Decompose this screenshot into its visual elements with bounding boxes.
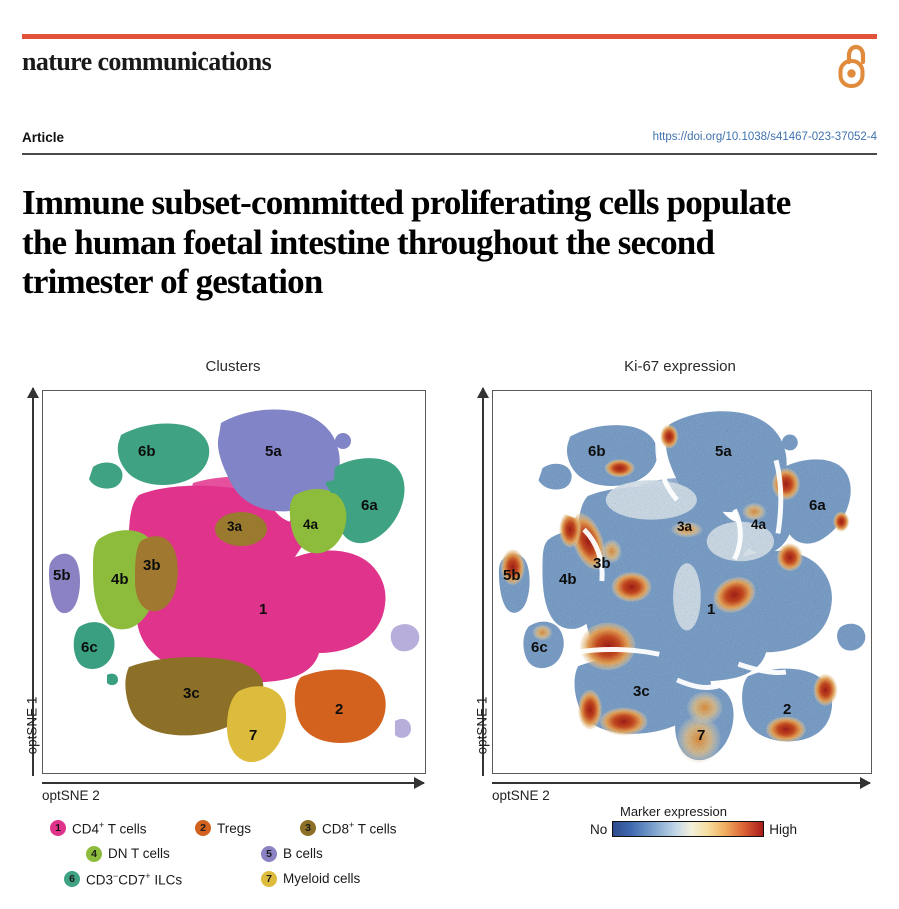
panel-ki67: Ki-67 expression optSNE 1 optSNE 2 xyxy=(470,358,890,818)
legend-label-6: CD3−CD7+ ILCs xyxy=(86,871,182,888)
legend-item-1[interactable]: 1 CD4+ T cells xyxy=(50,820,195,837)
colorbar-high-label: High xyxy=(769,822,797,837)
legend-label-7: Myeloid cells xyxy=(283,871,360,886)
journal-name: nature communications xyxy=(22,47,271,77)
legend-item-5[interactable]: 5 B cells xyxy=(261,846,323,862)
page-title: Immune subset-committed proliferating ce… xyxy=(22,183,822,301)
x-axis-arrow-right xyxy=(492,782,870,784)
legend-label-2: Tregs xyxy=(217,821,251,836)
colorbar-low-label: No xyxy=(590,822,607,837)
colorbar-gradient xyxy=(612,821,764,837)
cluster-blob-5a-satellite xyxy=(335,433,351,449)
legend-label-3: CD8+ T cells xyxy=(322,820,397,837)
cluster-scatter-svg xyxy=(43,391,425,773)
legend-badge-1: 1 xyxy=(50,820,66,836)
cluster-blob-6b xyxy=(118,423,209,485)
ki67-scatter-svg xyxy=(493,391,871,773)
legend-item-7[interactable]: 7 Myeloid cells xyxy=(261,871,360,887)
x-axis-label-left: optSNE 2 xyxy=(42,788,100,803)
legend-row-1: 1 CD4+ T cells 2 Tregs 3 CD8+ T cells xyxy=(50,820,450,837)
cluster-blob-7 xyxy=(227,686,286,762)
cluster-satellite-lavender xyxy=(391,624,420,651)
y-axis-label-left: optSNE 1 xyxy=(25,686,40,766)
marker-expression-colorbar: Marker expression No High xyxy=(590,804,820,837)
legend-item-3[interactable]: 3 CD8+ T cells xyxy=(300,820,397,837)
cluster-blob-6b-satellite xyxy=(89,463,122,489)
open-access-lock-icon xyxy=(838,42,872,88)
legend-row-3: 6 CD3−CD7+ ILCs 7 Myeloid cells xyxy=(50,871,450,888)
legend-badge-7: 7 xyxy=(261,871,277,887)
cluster-blob-2 xyxy=(295,670,386,744)
legend-item-2[interactable]: 2 Tregs xyxy=(195,820,300,836)
doi-link[interactable]: https://doi.org/10.1038/s41467-023-37052… xyxy=(653,131,877,143)
panel-title-ki67: Ki-67 expression xyxy=(470,358,890,375)
colorbar-row: No High xyxy=(590,821,820,837)
legend-badge-4: 4 xyxy=(86,846,102,862)
masthead-red-rule xyxy=(22,34,877,39)
legend-label-5: B cells xyxy=(283,846,323,861)
legend-badge-2: 2 xyxy=(195,820,211,836)
legend-row-2: 4 DN T cells 5 B cells xyxy=(50,846,450,862)
colorbar-title: Marker expression xyxy=(620,804,820,819)
cluster-blob-5b xyxy=(49,554,80,614)
cluster-blob-3a xyxy=(215,512,267,546)
legend-label-4: DN T cells xyxy=(108,846,170,861)
legend-badge-6: 6 xyxy=(64,871,80,887)
legend-label-1: CD4+ T cells xyxy=(72,820,147,837)
figure-container: Clusters optSNE 1 optSNE 2 xyxy=(0,358,899,909)
cluster-blob-2-satellite xyxy=(395,719,411,738)
cluster-blob-6c-dot xyxy=(107,674,118,686)
article-page: nature communications Article https://do… xyxy=(0,0,899,909)
tsne-plot-clusters[interactable]: 6b 5a 6a 3a 4a 5b 4b 3b 6c 1 3c 7 2 xyxy=(42,390,426,774)
panel-clusters: Clusters optSNE 1 optSNE 2 xyxy=(20,358,446,818)
tsne-plot-ki67[interactable]: 6b 5a 6a 3a 4a 5b 4b 3b 6c 1 3c 7 2 xyxy=(492,390,872,774)
x-axis-arrow-left xyxy=(42,782,424,784)
header-divider xyxy=(22,153,877,155)
legend-item-6[interactable]: 6 CD3−CD7+ ILCs xyxy=(64,871,261,888)
legend-item-4[interactable]: 4 DN T cells xyxy=(86,846,261,862)
article-type-kicker: Article xyxy=(22,130,64,145)
x-axis-label-right: optSNE 2 xyxy=(492,788,550,803)
cluster-blob-6c xyxy=(74,622,115,669)
panel-title-clusters: Clusters xyxy=(20,358,446,375)
legend-badge-3: 3 xyxy=(300,820,316,836)
y-axis-label-right: optSNE 1 xyxy=(475,686,490,766)
ki67-density-base xyxy=(499,411,865,763)
cluster-legend: 1 CD4+ T cells 2 Tregs 3 CD8+ T cells 4 … xyxy=(50,820,450,896)
legend-badge-5: 5 xyxy=(261,846,277,862)
